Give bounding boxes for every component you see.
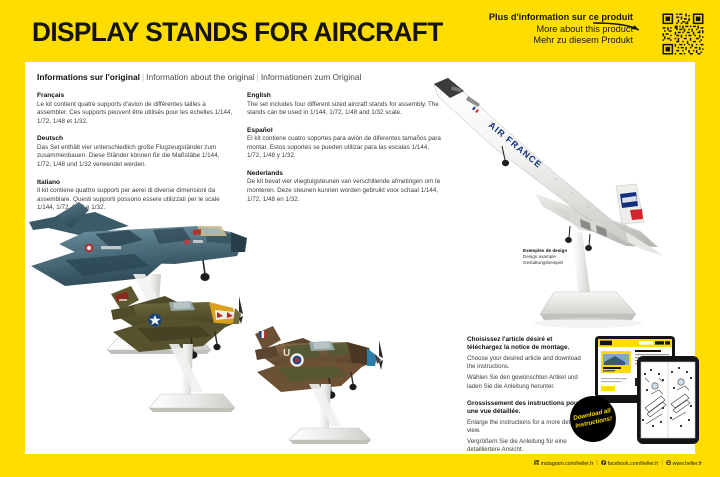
download-block1-de: Wählen Sie den gewünschten Artikel und l…: [467, 374, 589, 390]
concorde-model-illustration: AIR FRANCE: [430, 66, 692, 336]
website-url: www.heller.fr: [673, 461, 702, 467]
info-heading-fr: Informations sur l'original: [37, 72, 140, 82]
facebook-url: facebook.com/heller.fr: [608, 461, 659, 467]
social-links: instagram.com/heller.fr | facebook.com/h…: [534, 460, 702, 467]
instagram-link[interactable]: instagram.com/heller.fr: [534, 460, 593, 467]
info-heading: Informations sur l'original|Information …: [37, 72, 449, 82]
concorde-caption-de: Gestaltungsbeispiel: [523, 260, 563, 265]
download-text-column: Choisissez l'article désiré et télécharg…: [467, 336, 589, 463]
content-canvas: Informations sur l'original|Information …: [25, 62, 695, 454]
info-text-english: The set includes four different sized ai…: [247, 101, 443, 118]
instagram-url: instagram.com/heller.fr: [541, 461, 593, 467]
download-block-1: Choisissez l'article désiré et télécharg…: [467, 336, 589, 391]
info-lang-espanol: Español: [247, 127, 443, 134]
info-block-francais: Français Le kit contient quatre supports…: [37, 92, 233, 126]
info-text-espanol: El kit contiene cuatro soportes para avi…: [247, 135, 443, 161]
website-link[interactable]: www.heller.fr: [666, 460, 702, 467]
concorde-caption-fr: Exemples de design: [523, 248, 567, 253]
download-block2-de: Vergrößern Sie die Anleitung für eine de…: [467, 438, 589, 454]
models-illustration: U: [25, 182, 445, 452]
download-block1-heading: Choisissez l'article désiré et télécharg…: [467, 336, 589, 352]
aircraft-models-photo: U Exemples de design Design example Gest…: [25, 182, 445, 452]
download-block1-en: Choose your desired article and download…: [467, 355, 589, 371]
info-text-francais: Le kit contient quatre supports d'avion …: [37, 101, 233, 127]
concorde-caption-en: Design example: [523, 254, 556, 259]
info-heading-de: Informationen zum Original: [261, 72, 362, 82]
svg-text:U: U: [283, 348, 290, 359]
social-sep-2: |: [661, 460, 662, 466]
info-block-english: English The set includes four different …: [247, 92, 443, 118]
info-lang-english: English: [247, 92, 443, 99]
qr-caption-de: Mehr zu diesem Produkt: [489, 35, 633, 47]
hurricane-model: U: [255, 326, 383, 444]
page-footer: instagram.com/heller.fr | facebook.com/h…: [0, 454, 720, 477]
facebook-icon: [601, 460, 606, 465]
facebook-link[interactable]: facebook.com/heller.fr: [601, 460, 659, 467]
info-lang-nederlands: Nederlands: [247, 170, 443, 177]
page-title: DISPLAY STANDS FOR AIRCRAFT: [32, 17, 443, 48]
page-header: DISPLAY STANDS FOR AIRCRAFT Plus d'infor…: [0, 0, 720, 62]
download-instructions-panel: Choisissez l'article désiré et télécharg…: [445, 334, 695, 452]
info-block-deutsch: Deutsch Das Set enthält vier unterschied…: [37, 135, 233, 169]
info-lang-francais: Français: [37, 92, 233, 99]
globe-icon: [666, 460, 671, 465]
info-heading-en: Information about the original: [146, 72, 254, 82]
info-lang-deutsch: Deutsch: [37, 135, 233, 142]
info-block-espanol: Español El kit contiene cuatro soportes …: [247, 127, 443, 161]
instagram-icon: [534, 460, 539, 465]
curved-arrow-icon: [593, 20, 647, 34]
concorde-photo: AIR FRANCE: [430, 66, 692, 336]
social-sep-1: |: [596, 460, 597, 466]
qr-info-block: Plus d'information sur ce produit More a…: [455, 12, 705, 54]
concorde-caption: Exemples de design Design example Gestal…: [523, 248, 567, 266]
info-text-deutsch: Das Set enthält vier unterschiedlich gro…: [37, 144, 233, 170]
qr-code-icon[interactable]: [661, 12, 705, 56]
